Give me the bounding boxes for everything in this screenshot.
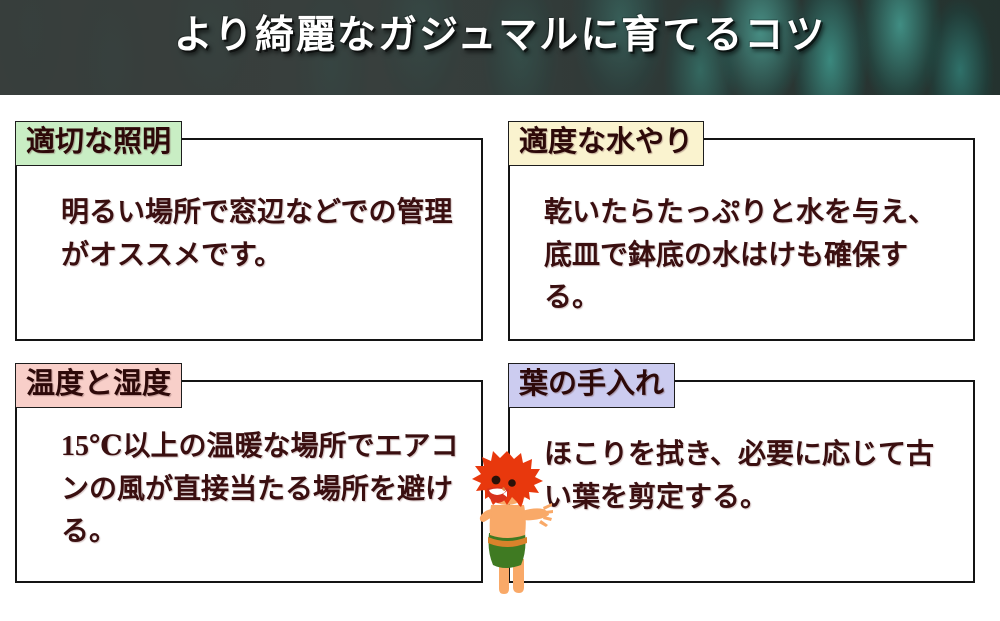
header-banner: より綺麗なガジュマルに育てるコツ xyxy=(0,0,1000,95)
tip-card-lighting-badge: 適切な照明 xyxy=(15,121,182,166)
tip-card-leaf-care-badge: 葉の手入れ xyxy=(508,363,675,408)
infographic-root: より綺麗なガジュマルに育てるコツ 適切な照明 明るい場所で窓辺などでの管理がオス… xyxy=(0,0,1000,621)
tip-card-watering-badge: 適度な水やり xyxy=(508,121,704,166)
tip-card-watering: 適度な水やり 乾いたらたっぷりと水を与え、底皿で鉢底の水はけも確保する。 xyxy=(508,138,975,341)
tip-card-watering-body: 乾いたらたっぷりと水を与え、底皿で鉢底の水はけも確保する。 xyxy=(510,192,973,320)
tip-card-lighting-body: 明るい場所で窓辺などでの管理がオススメです。 xyxy=(17,192,481,277)
tip-card-leaf-care-body: ほこりを拭き、必要に応じて古い葉を剪定する。 xyxy=(510,434,973,519)
tip-card-temperature-humidity: 温度と湿度 15℃以上の温暖な場所でエアコンの風が直接当たる場所を避ける。 xyxy=(15,380,483,583)
tip-card-temperature-humidity-body: 15℃以上の温暖な場所でエアコンの風が直接当たる場所を避ける。 xyxy=(17,426,481,554)
tip-card-temperature-humidity-badge: 温度と湿度 xyxy=(15,363,182,408)
page-title: より綺麗なガジュマルに育てるコツ xyxy=(0,14,1000,59)
tip-card-leaf-care: 葉の手入れ ほこりを拭き、必要に応じて古い葉を剪定する。 xyxy=(508,380,975,583)
card-edge-overlap-strip xyxy=(506,447,508,595)
tip-card-lighting: 適切な照明 明るい場所で窓辺などでの管理がオススメです。 xyxy=(15,138,483,341)
